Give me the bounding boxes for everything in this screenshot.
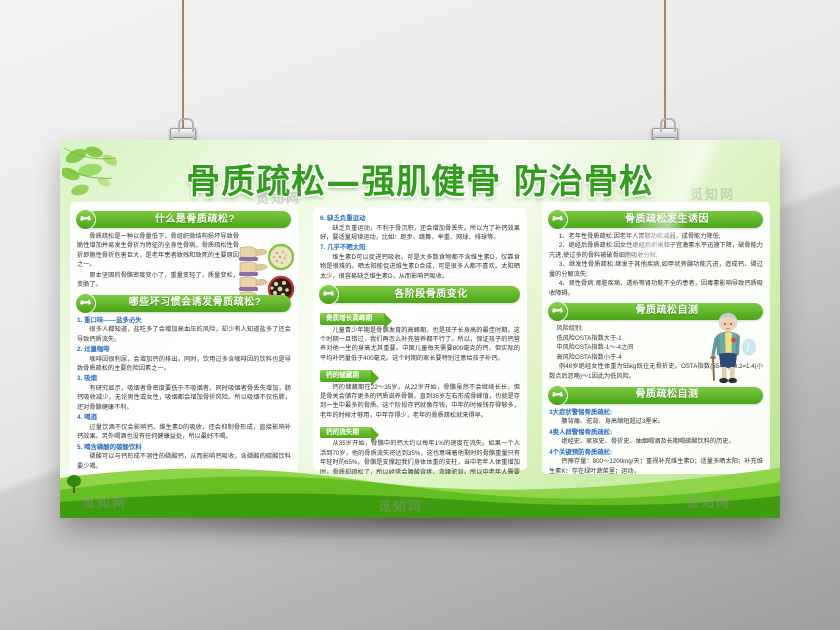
habit-body: 维生素D可以促进钙吸收。可是大多数食物都不含维生素D，仅靠食物是很难的。晒太阳能…	[320, 253, 520, 281]
bone-icon	[547, 301, 568, 322]
habit-number: 3.	[77, 375, 82, 382]
habit-item: 4. 喝酒 过量饮酒不仅会影响钙、维生素D的吸收，还会抑制骨形成，直接影响补钙效…	[77, 413, 291, 441]
bone-icon	[547, 385, 568, 406]
osta-line: 中风险OSTA指数-1～-4之间	[549, 343, 707, 353]
section-title: 骨质疏松自测	[636, 390, 699, 400]
poster-drop-shadow	[60, 518, 780, 540]
cause-item: 2、绝经后骨质疏松:因女性绝经后卵巢和子宫激素水平迅速下降，破骨能力亢进,使过多…	[549, 241, 763, 260]
habit-title: 缺乏负重运动	[327, 215, 365, 222]
bone-icon	[318, 284, 339, 305]
habit-number: 5.	[77, 444, 82, 451]
bottom-wave-decoration	[60, 456, 780, 518]
group-title: 4类人群警惕骨质疏松:	[549, 428, 763, 438]
stage-block: 钙的储藏期 钙的储藏期在22～35岁。从22岁开始，骨骼虽然不会继续长长，但是骨…	[320, 364, 520, 420]
bone-icon	[547, 209, 568, 230]
habit-number: 2.	[77, 346, 82, 353]
bone-icon	[75, 209, 96, 230]
section-header-what-is-osteoporosis[interactable]: 什么是骨质疏松?	[77, 211, 291, 228]
habit-item: 7. 几乎不晒太阳 维生素D可以促进钙吸收。可是大多数食物都不含维生素D，仅靠食…	[320, 243, 520, 281]
section-title: 骨质疏松自测	[636, 306, 699, 316]
tree-icon	[66, 474, 82, 494]
section-header-self-test-symptoms[interactable]: 骨质疏松自测	[549, 387, 763, 404]
group-body: 绝经史、家族史、骨折史、抽烟喝酒及长期喝碳酸饮料的历史。	[549, 437, 763, 446]
habit-number: 7.	[320, 244, 325, 251]
habit-title: 几乎不晒太阳	[327, 244, 365, 251]
habit-body: 过量饮酒不仅会影响钙、维生素D的吸收，还会抑制骨形成，直接影响补钙效果。另外喝酒…	[77, 423, 291, 442]
stage-body: 儿童青少年期是骨骼发育的高峰期，也是孩子长身高的最佳时期。这个时期一旦错过，我们…	[320, 326, 520, 364]
habit-item: 6. 缺乏负重运动 缺乏负重运动，不利于骨沉积，还会增加骨丢失。所以为了补钙效果…	[320, 214, 520, 242]
cause-item: 1、老年性骨质疏松:因老年人胃肠功能减弱，成骨能力降低;	[549, 232, 763, 241]
stage-body: 钙的储藏期在22～35岁。从22岁开始，骨骼虽然不会继续长长，但是骨关会储存更多…	[320, 383, 520, 421]
cause-item: 4、肾性骨病:肾脏疾病、透析等肾功能不全的患者，因毒素影响导致钙质吸收障碍。	[549, 279, 763, 298]
section-header-bone-stages[interactable]: 各阶段骨质变化	[320, 286, 520, 303]
group-title: 3大症状警惕骨质疏松:	[549, 408, 763, 418]
habit-title: 喝酒	[84, 414, 97, 421]
middle-column: 6. 缺乏负重运动 缺乏负重运动，不利于骨沉积，还会增加骨丢失。所以为了补钙效果…	[306, 202, 534, 474]
habit-title: 吸烟	[84, 375, 97, 382]
section-title: 什么是骨质疏松?	[155, 215, 235, 225]
section-title: 骨质疏松发生诱因	[625, 215, 709, 225]
habit-number: 6.	[320, 215, 325, 222]
prevention-group: 3大症状警惕骨质疏松: 腰背痛、驼背、身高缩短超过3厘米。	[549, 408, 763, 427]
group-body: 腰背痛、驼背、身高缩短超过3厘米。	[549, 417, 763, 426]
habit-item: 1. 重口味——盐多必失 很多人都知道，盐吃多了会增加高血压的风险，却少有人知道…	[77, 316, 291, 344]
habit-body: 缺乏负重运动，不利于骨沉积，还会增加骨丢失。所以为了补钙效果好，要适量规律运动，…	[320, 224, 520, 243]
habit-title: 重口味——盐多必失	[84, 317, 142, 324]
osta-line: 风险组别:	[549, 324, 707, 334]
prevention-group: 4类人群警惕骨质疏松: 绝经史、家族史、骨折史、抽烟喝酒及长期喝碳酸饮料的历史。	[549, 428, 763, 447]
osta-line: 高风险OSTA指数小于-4	[549, 353, 707, 363]
stage-label: 钙的储藏期	[320, 370, 372, 381]
habit-number: 4.	[77, 414, 82, 421]
stage-block: 骨质增长高峰期 儿童青少年期是骨骼发育的高峰期，也是孩子长身高的最佳时期。这个时…	[320, 307, 520, 363]
cause-item: 3、继发性骨质疏松:继发于其他疾病,如甲状旁腺功能亢进，造成钙、磷过量的分解流失…	[549, 260, 763, 279]
habit-body: 咖啡因很利尿，会增加钙的排出。同时，饮用过多含咖啡因的饮料也是导致骨质疏松的主要…	[77, 355, 291, 374]
left-column: 什么是骨质疏松? 骨质疏松是一种以骨量低下，骨组织微结构损坏导致骨脆性增加并易发…	[70, 202, 298, 474]
habit-title: 过量咖啡	[84, 346, 110, 353]
osta-line: 低风险OSTA指数大于-1	[549, 334, 707, 344]
elderly-woman-with-cane-illustration	[701, 309, 761, 387]
bone-icon	[75, 293, 96, 314]
habit-item: 3. 吸烟 有研究显示，吸烟者骨密度要低于不吸烟者。同时吸烟者骨丢失增加，肠钙吸…	[77, 374, 291, 412]
poster-board: 骨质疏松—强肌健骨 防治骨松 什么是骨质疏松? 骨质疏松是一种以骨量低下，骨组织…	[60, 140, 780, 518]
section-title: 哪些坏习惯会诱发骨质疏松?	[129, 298, 262, 308]
habit-body: 很多人都知道，盐吃多了会增加高血压的风险，却少有人知道盐多了还会导致钙质流失。	[77, 325, 291, 344]
section-header-bad-habits[interactable]: 哪些坏习惯会诱发骨质疏松?	[77, 295, 291, 312]
right-column: 骨质疏松发生诱因 1、老年性骨质疏松:因老年人胃肠功能减弱，成骨能力降低; 2、…	[542, 202, 770, 474]
stage-label: 骨质增长高峰期	[320, 313, 385, 324]
habit-body: 有研究显示，吸烟者骨密度要低于不吸烟者。同时吸烟者骨丢失增加，肠钙吸收减少，无论…	[77, 384, 291, 412]
section-title: 各阶段骨质变化	[394, 290, 468, 300]
habit-item: 2. 过量咖啡 咖啡因很利尿，会增加钙的排出。同时，饮用过多含咖啡因的饮料也是导…	[77, 345, 291, 373]
page-title: 骨质疏松—强肌健骨 防治骨松	[60, 140, 780, 202]
habit-title: 喝含磷酸的碳酸饮料	[84, 444, 142, 451]
stage-label: 钙的流失期	[320, 427, 372, 438]
habit-number: 1.	[77, 317, 82, 324]
section-header-causes[interactable]: 骨质疏松发生诱因	[549, 211, 763, 228]
